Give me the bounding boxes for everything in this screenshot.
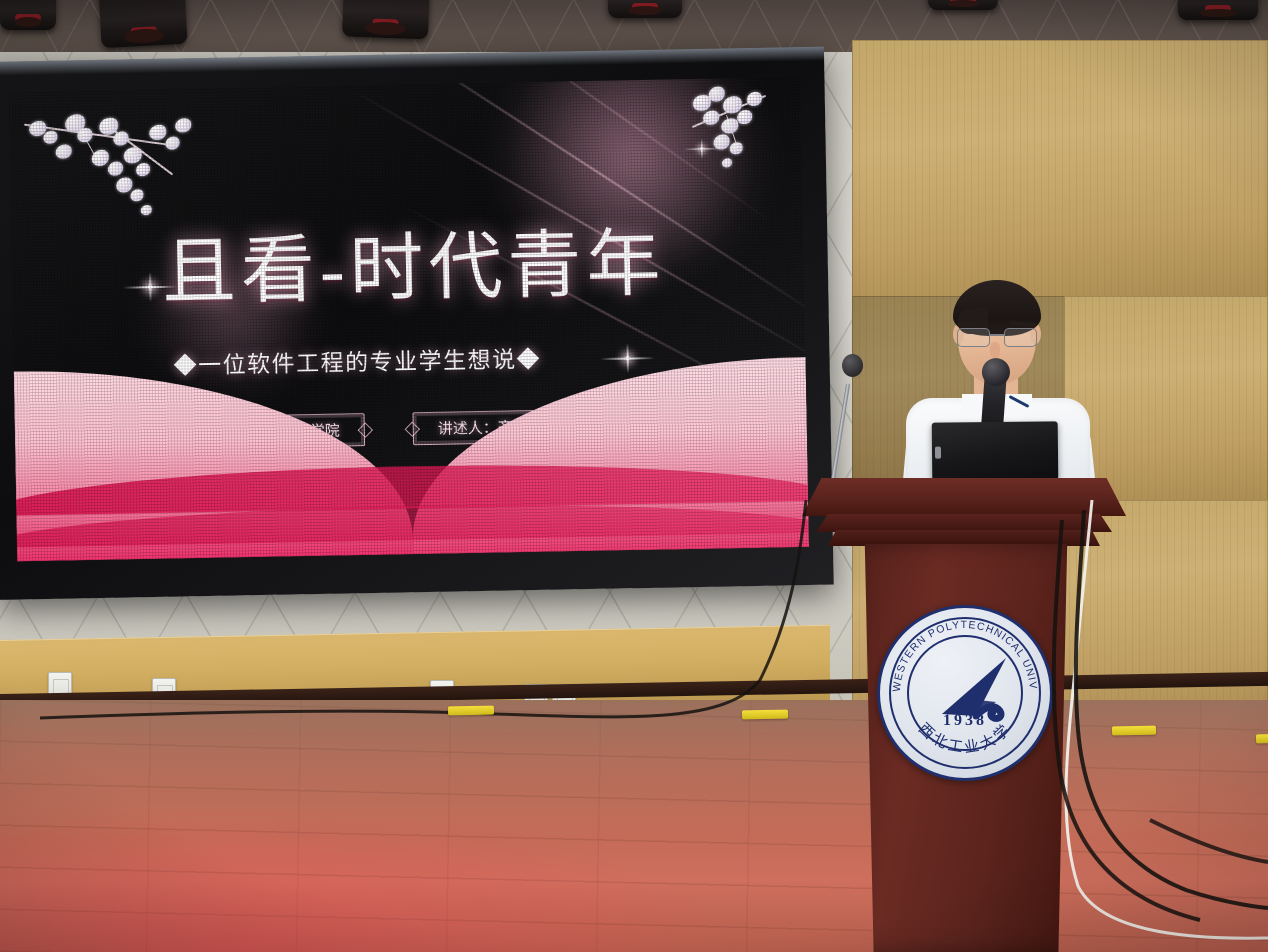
cable-tape-2	[742, 710, 788, 720]
cable-tape-1	[448, 706, 494, 716]
cable-tape-4	[1256, 734, 1268, 744]
podium-cables	[0, 0, 1268, 952]
auditorium-scene: 且看-时代青年 ◆一位软件工程的专业学生想说◆ 院系：软件学院 讲述人：齐俊杰	[0, 0, 1268, 952]
cable-tape-3	[1112, 726, 1156, 736]
